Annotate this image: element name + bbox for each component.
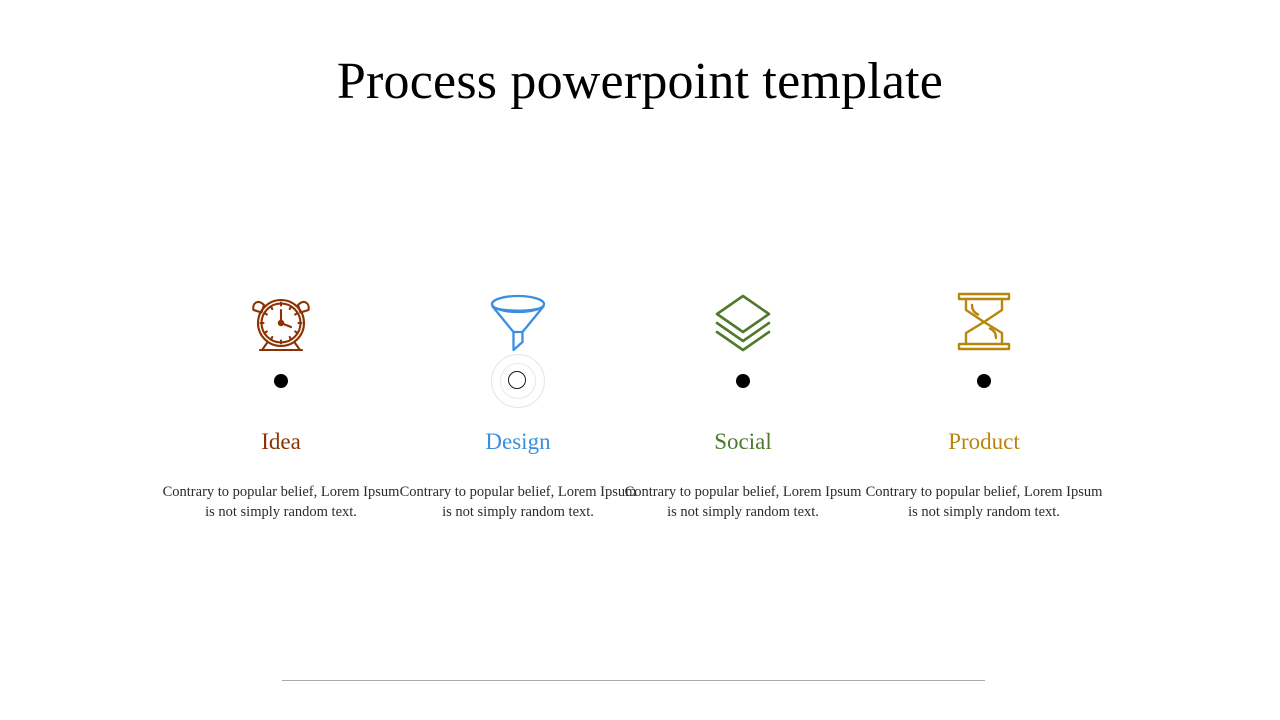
timeline-connector-line — [282, 680, 985, 681]
step-label-idea: Idea — [161, 427, 401, 457]
slide-canvas: Process powerpoint template — [0, 0, 1280, 720]
process-step-idea[interactable]: Idea Contrary to popular belief, Lorem I… — [161, 285, 401, 357]
page-title: Process powerpoint template — [0, 52, 1280, 112]
step-description-design: Contrary to popular belief, Lorem Ipsum … — [398, 482, 638, 522]
timeline-dot — [274, 374, 288, 388]
funnel-icon — [398, 285, 638, 357]
step-description-idea: Contrary to popular belief, Lorem Ipsum … — [161, 482, 401, 522]
timeline-active-marker — [491, 354, 545, 408]
step-description-product: Contrary to popular belief, Lorem Ipsum … — [864, 482, 1104, 522]
hourglass-icon — [864, 285, 1104, 357]
process-step-product[interactable]: Product Contrary to popular belief, Lore… — [864, 285, 1104, 357]
step-description-social: Contrary to popular belief, Lorem Ipsum … — [623, 482, 863, 522]
layers-icon — [623, 285, 863, 357]
timeline-dot — [736, 374, 750, 388]
process-timeline: Idea Contrary to popular belief, Lorem I… — [0, 285, 1280, 545]
process-step-social[interactable]: Social Contrary to popular belief, Lorem… — [623, 285, 863, 357]
process-step-design[interactable]: Design Contrary to popular belief, Lorem… — [398, 285, 638, 357]
step-label-design: Design — [398, 427, 638, 457]
alarm-clock-icon — [161, 285, 401, 357]
step-label-social: Social — [623, 427, 863, 457]
marker-ring-inner — [508, 371, 526, 389]
step-label-product: Product — [864, 427, 1104, 457]
timeline-dot — [977, 374, 991, 388]
